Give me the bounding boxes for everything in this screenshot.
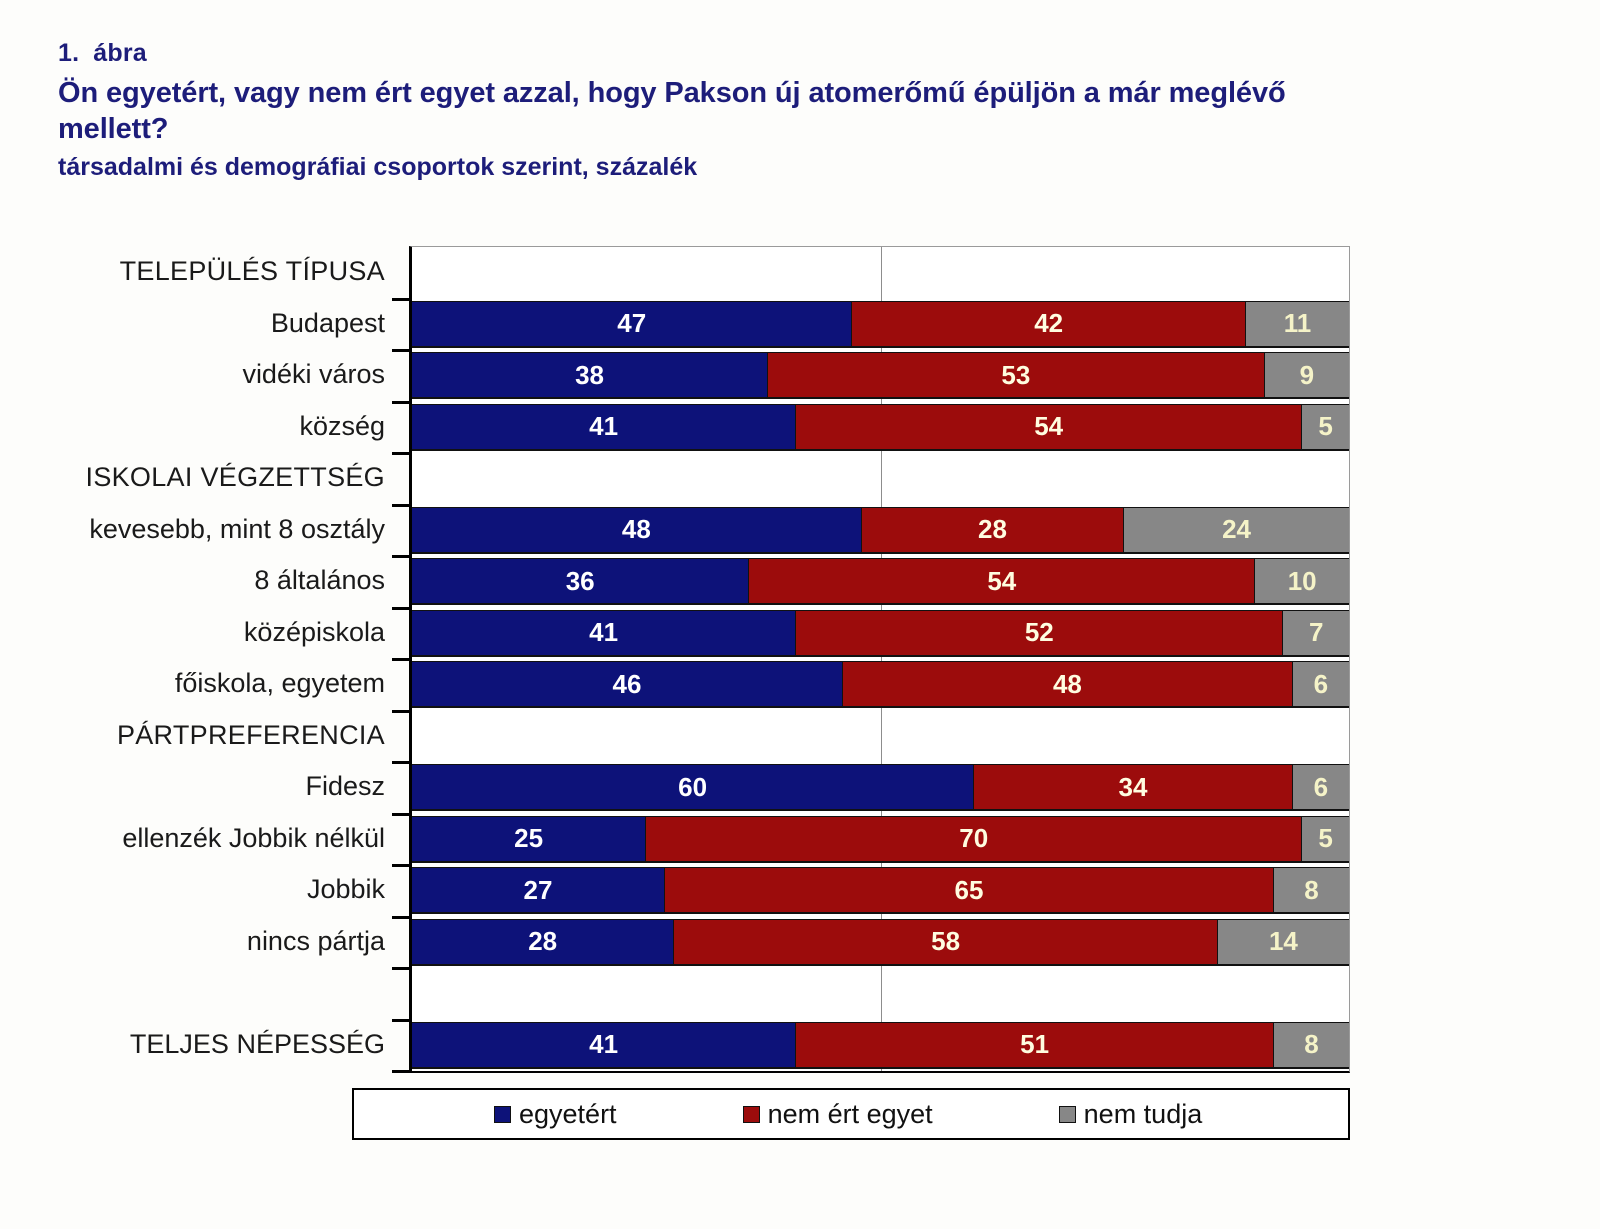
bar-segment-disagree: 58 bbox=[674, 919, 1217, 966]
bar-segment-agree: 41 bbox=[412, 404, 796, 451]
y-axis-tick bbox=[392, 967, 409, 970]
y-axis-category-label: kevesebb, mint 8 osztály bbox=[89, 504, 385, 556]
bar-value-label: 48 bbox=[622, 514, 651, 545]
y-axis-category-label: ellenzék Jobbik nélkül bbox=[122, 813, 385, 865]
bar-value-label: 8 bbox=[1304, 1029, 1318, 1060]
bar-value-label: 58 bbox=[931, 926, 960, 957]
bar-segment-disagree: 65 bbox=[665, 867, 1274, 914]
stacked-bar-row: 46486 bbox=[412, 661, 1349, 708]
bar-value-label: 51 bbox=[1020, 1029, 1049, 1060]
bar-segment-dontknow: 11 bbox=[1246, 301, 1349, 348]
legend-swatch-agree bbox=[494, 1106, 511, 1123]
bar-segment-agree: 28 bbox=[412, 919, 674, 966]
y-axis-category-label: 8 általános bbox=[254, 555, 385, 607]
stacked-bar-chart: TELEPÜLÉS TÍPUSABudapestvidéki városközs… bbox=[0, 0, 1600, 1229]
bar-value-label: 14 bbox=[1269, 926, 1298, 957]
y-axis-category-label: TELJES NÉPESSÉG bbox=[130, 1019, 385, 1071]
legend-item-1[interactable]: nem ért egyet bbox=[743, 1099, 933, 1130]
bar-value-label: 9 bbox=[1300, 360, 1314, 391]
bar-segment-dontknow: 6 bbox=[1293, 764, 1349, 811]
bar-value-label: 10 bbox=[1288, 566, 1317, 597]
bar-value-label: 5 bbox=[1318, 411, 1332, 442]
y-axis-tick bbox=[392, 916, 409, 919]
bar-segment-agree: 25 bbox=[412, 816, 646, 863]
stacked-bar-row: 41518 bbox=[412, 1022, 1349, 1069]
bar-segment-agree: 41 bbox=[412, 1022, 796, 1069]
stacked-bar-row: 38539 bbox=[412, 352, 1349, 399]
bar-value-label: 7 bbox=[1309, 617, 1323, 648]
bar-value-label: 65 bbox=[955, 875, 984, 906]
bar-segment-disagree: 28 bbox=[862, 507, 1124, 554]
y-axis-tick bbox=[392, 813, 409, 816]
y-axis-category-label: község bbox=[299, 401, 385, 453]
legend-swatch-dontknow bbox=[1059, 1106, 1076, 1123]
legend-label: nem ért egyet bbox=[768, 1099, 933, 1130]
stacked-bar-row: 27658 bbox=[412, 867, 1349, 914]
bar-value-label: 6 bbox=[1314, 772, 1328, 803]
bar-segment-dontknow: 8 bbox=[1274, 1022, 1349, 1069]
bar-value-label: 11 bbox=[1284, 308, 1312, 339]
bar-value-label: 5 bbox=[1318, 823, 1332, 854]
stacked-bar-row: 474211 bbox=[412, 301, 1349, 348]
bar-segment-agree: 27 bbox=[412, 867, 665, 914]
bar-segment-agree: 41 bbox=[412, 610, 796, 657]
bar-segment-agree: 60 bbox=[412, 764, 974, 811]
bar-segment-disagree: 52 bbox=[796, 610, 1283, 657]
bar-value-label: 41 bbox=[589, 617, 618, 648]
y-axis-category-label: Budapest bbox=[271, 298, 385, 350]
y-axis-tick bbox=[392, 298, 409, 301]
bar-segment-dontknow: 7 bbox=[1283, 610, 1349, 657]
y-axis-category-label: nincs pártja bbox=[247, 916, 385, 968]
bar-segment-dontknow: 24 bbox=[1124, 507, 1349, 554]
y-axis-category-label: Jobbik bbox=[307, 864, 385, 916]
bar-segment-disagree: 70 bbox=[646, 816, 1302, 863]
y-axis-tick bbox=[392, 864, 409, 867]
bar-value-label: 28 bbox=[978, 514, 1007, 545]
bar-value-label: 54 bbox=[987, 566, 1016, 597]
y-axis-tick bbox=[392, 1019, 409, 1022]
bar-segment-dontknow: 14 bbox=[1218, 919, 1349, 966]
bar-value-label: 53 bbox=[1001, 360, 1030, 391]
y-axis-labels: TELEPÜLÉS TÍPUSABudapestvidéki városközs… bbox=[0, 246, 409, 1073]
y-axis-category-label: vidéki város bbox=[242, 349, 385, 401]
bar-value-label: 48 bbox=[1053, 669, 1082, 700]
y-axis-tick bbox=[392, 555, 409, 558]
bar-segment-disagree: 34 bbox=[974, 764, 1293, 811]
bar-segment-disagree: 54 bbox=[796, 404, 1302, 451]
y-axis-tick bbox=[392, 504, 409, 507]
bar-value-label: 41 bbox=[589, 411, 618, 442]
bar-value-label: 25 bbox=[514, 823, 543, 854]
bar-segment-agree: 48 bbox=[412, 507, 862, 554]
bar-value-label: 8 bbox=[1304, 875, 1318, 906]
y-axis-tick bbox=[392, 401, 409, 404]
plot-area: 4742113853941545482824365410415274648660… bbox=[409, 246, 1350, 1073]
legend-item-0[interactable]: egyetért bbox=[494, 1099, 617, 1130]
legend-label: nem tudja bbox=[1084, 1099, 1203, 1130]
bar-segment-dontknow: 9 bbox=[1265, 352, 1349, 399]
bar-segment-disagree: 51 bbox=[796, 1022, 1274, 1069]
bar-value-label: 47 bbox=[617, 308, 646, 339]
bar-segment-dontknow: 10 bbox=[1255, 558, 1349, 605]
bar-value-label: 36 bbox=[566, 566, 595, 597]
bar-segment-disagree: 48 bbox=[843, 661, 1293, 708]
legend-swatch-disagree bbox=[743, 1106, 760, 1123]
bar-segment-dontknow: 5 bbox=[1302, 816, 1349, 863]
bar-segment-dontknow: 8 bbox=[1274, 867, 1349, 914]
legend-item-2[interactable]: nem tudja bbox=[1059, 1099, 1203, 1130]
y-axis-tick bbox=[392, 761, 409, 764]
stacked-bar-row: 25705 bbox=[412, 816, 1349, 863]
bar-value-label: 42 bbox=[1034, 308, 1063, 339]
bar-segment-agree: 47 bbox=[412, 301, 852, 348]
bar-value-label: 60 bbox=[678, 772, 707, 803]
y-axis-tick bbox=[392, 1070, 409, 1073]
stacked-bar-row: 41545 bbox=[412, 404, 1349, 451]
y-axis-group-label: PÁRTPREFERENCIA bbox=[117, 710, 385, 762]
bar-value-label: 28 bbox=[528, 926, 557, 957]
bar-value-label: 70 bbox=[959, 823, 988, 854]
bar-value-label: 24 bbox=[1222, 514, 1251, 545]
bar-value-label: 54 bbox=[1034, 411, 1063, 442]
bar-segment-disagree: 54 bbox=[749, 558, 1255, 605]
y-axis-category-label: főiskola, egyetem bbox=[175, 658, 385, 710]
bar-value-label: 27 bbox=[524, 875, 553, 906]
bar-value-label: 38 bbox=[575, 360, 604, 391]
bar-value-label: 6 bbox=[1314, 669, 1328, 700]
y-axis-group-label: TELEPÜLÉS TÍPUSA bbox=[120, 246, 385, 298]
y-axis-tick bbox=[392, 658, 409, 661]
y-axis-tick bbox=[392, 710, 409, 713]
bar-segment-dontknow: 6 bbox=[1293, 661, 1349, 708]
stacked-bar-row: 365410 bbox=[412, 558, 1349, 605]
stacked-bar-row: 482824 bbox=[412, 507, 1349, 554]
y-axis-group-label: ISKOLAI VÉGZETTSÉG bbox=[86, 452, 385, 504]
bar-value-label: 41 bbox=[589, 1029, 618, 1060]
chart-legend: egyetértnem ért egyetnem tudja bbox=[352, 1088, 1350, 1140]
bar-segment-disagree: 53 bbox=[768, 352, 1265, 399]
stacked-bar-row: 285814 bbox=[412, 919, 1349, 966]
stacked-bar-row: 60346 bbox=[412, 764, 1349, 811]
bar-segment-dontknow: 5 bbox=[1302, 404, 1349, 451]
bar-value-label: 46 bbox=[613, 669, 642, 700]
y-axis-category-label: középiskola bbox=[244, 607, 385, 659]
y-axis-tick bbox=[392, 349, 409, 352]
y-axis-tick bbox=[392, 452, 409, 455]
stacked-bar-row: 41527 bbox=[412, 610, 1349, 657]
bar-segment-agree: 38 bbox=[412, 352, 768, 399]
bar-segment-agree: 46 bbox=[412, 661, 843, 708]
y-axis-tick bbox=[392, 607, 409, 610]
bar-value-label: 52 bbox=[1025, 617, 1054, 648]
bar-segment-agree: 36 bbox=[412, 558, 749, 605]
legend-label: egyetért bbox=[519, 1099, 617, 1130]
y-axis-category-label: Fidesz bbox=[305, 761, 385, 813]
bar-value-label: 34 bbox=[1119, 772, 1148, 803]
bar-segment-disagree: 42 bbox=[852, 301, 1246, 348]
